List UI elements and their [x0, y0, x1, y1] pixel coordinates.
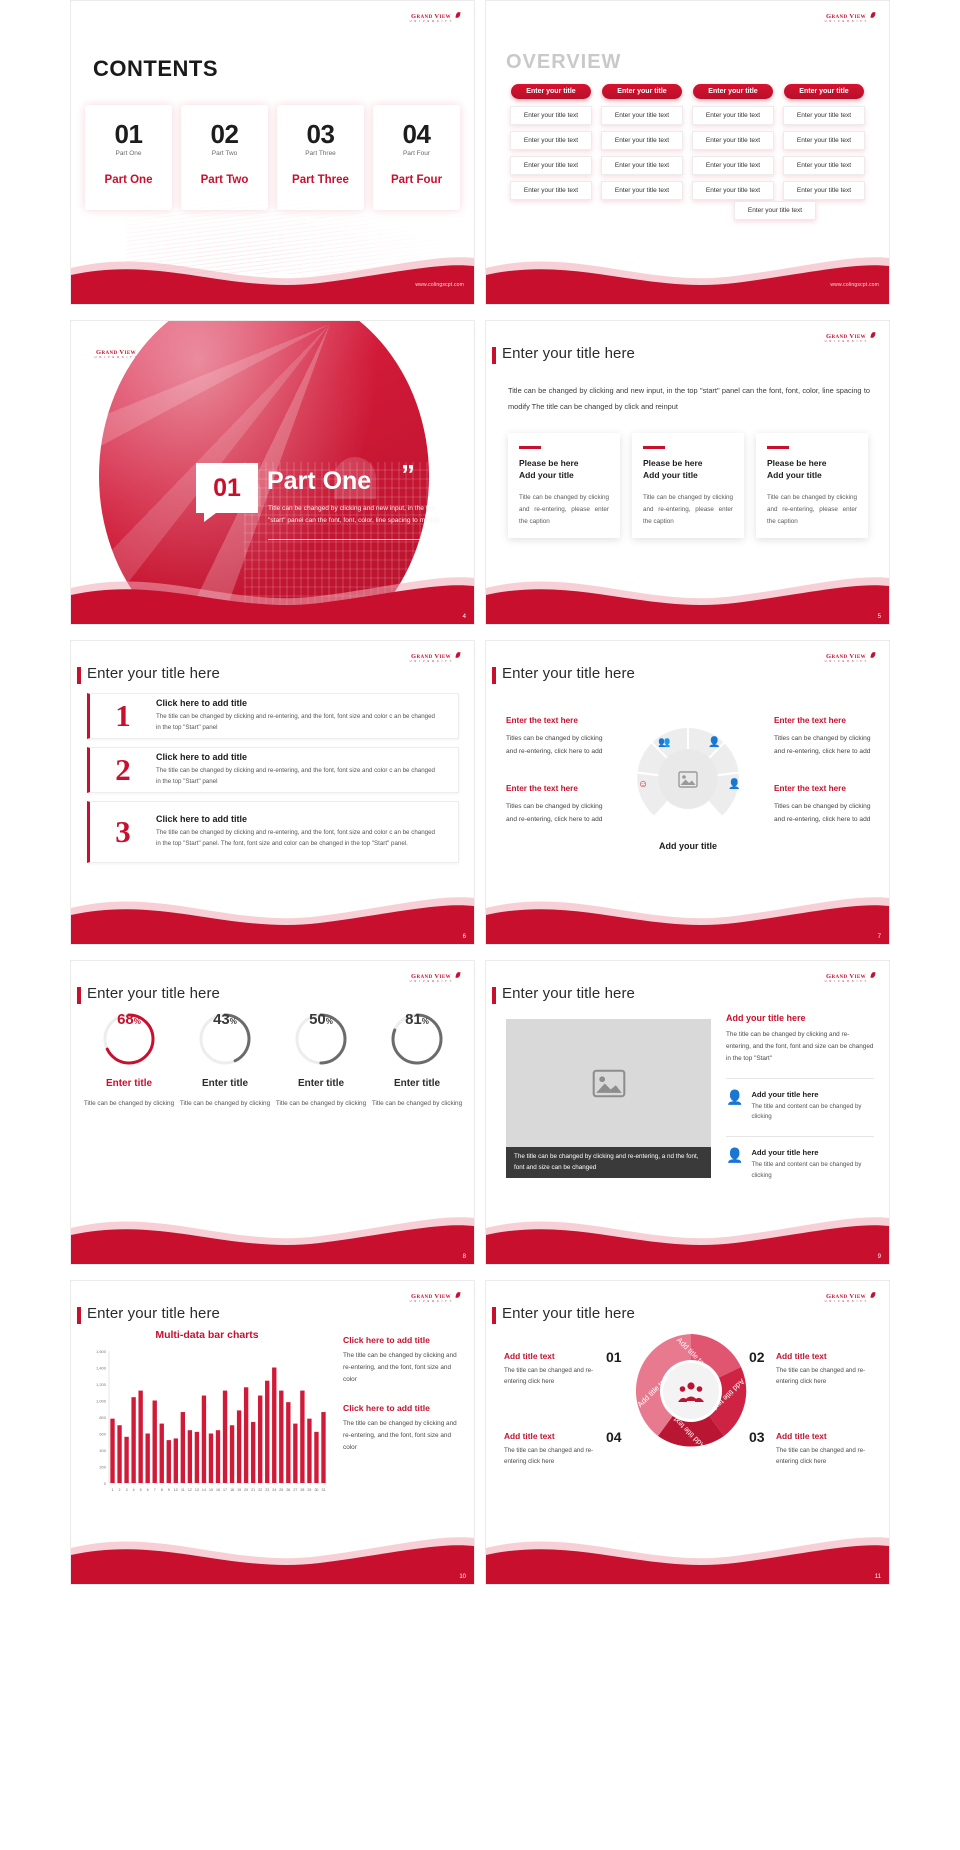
donut-chart: 81 % — [389, 1011, 445, 1067]
x-tick-label: 6 — [147, 1488, 149, 1492]
x-tick-label: 21 — [251, 1488, 255, 1492]
x-tick-label: 26 — [286, 1488, 290, 1492]
diagram-label-bottom-right: Enter the text here Titles can be change… — [774, 781, 874, 827]
numbered-row-list: 1 Click here to add title The title can … — [87, 693, 459, 871]
logo-subtext: U N I V E R S I T Y — [410, 981, 453, 984]
page-number: 7 — [878, 934, 881, 940]
item-title: Add your title here — [751, 1148, 874, 1157]
donut-unit: % — [422, 1017, 429, 1026]
y-tick-label: 600 — [99, 1432, 106, 1437]
bar — [321, 1412, 325, 1483]
bar — [167, 1440, 171, 1483]
quadrant-number-2: 02 — [749, 1349, 765, 1365]
label-title: Enter the text here — [774, 713, 874, 729]
bar-chart-svg: 02004006008001,0001,2001,4001,6001234567… — [83, 1347, 331, 1497]
bar — [314, 1432, 318, 1483]
footer-url: www.colingscpt.com — [415, 282, 464, 288]
overview-cell[interactable]: Enter your title text — [783, 106, 865, 125]
donut-label: Enter title — [273, 1078, 369, 1089]
logo-subtext: U N I V E R S I T Y — [410, 1301, 453, 1304]
x-tick-label: 10 — [174, 1488, 178, 1492]
card-label: Part Four — [391, 174, 442, 186]
x-tick-label: 25 — [279, 1488, 283, 1492]
item-body: The title and content can be changed by … — [751, 1102, 874, 1124]
accent-bar — [643, 446, 665, 449]
x-tick-label: 19 — [237, 1488, 241, 1492]
logo-subtext: U N I V E R S I T Y — [825, 661, 868, 664]
row-number: 1 — [90, 698, 156, 734]
person-icon: 👤 — [726, 1148, 743, 1182]
slide-image-and-list[interactable]: Grand View U N I V E R S I T Y Enter you… — [485, 960, 890, 1265]
bar — [153, 1401, 157, 1484]
donut-value: 81 — [405, 1011, 422, 1028]
x-tick-label: 18 — [230, 1488, 234, 1492]
donut-item[interactable]: 50 % Enter title Title can be changed by… — [273, 1011, 369, 1110]
x-tick-label: 20 — [244, 1488, 248, 1492]
donut-label: Enter title — [81, 1078, 177, 1089]
overview-cell[interactable]: Enter your title text — [692, 131, 774, 150]
card-label: Part One — [105, 174, 153, 186]
x-tick-label: 17 — [223, 1488, 227, 1492]
accent-bar — [519, 446, 541, 449]
overview-cell[interactable]: Enter your title text — [510, 156, 592, 175]
person-tie-icon: 👤 — [728, 779, 740, 790]
bar — [202, 1396, 206, 1483]
diagram-label-top-right: Enter the text here Titles can be change… — [774, 713, 874, 759]
person-icon: 👤 — [726, 1090, 743, 1124]
bar — [216, 1430, 220, 1483]
wave-footer — [71, 1522, 474, 1584]
y-tick-label: 400 — [99, 1448, 106, 1453]
page-title: CONTENTS — [93, 56, 218, 82]
info-card[interactable]: Please be here Add your title Title can … — [756, 433, 868, 538]
row-body: The title can be changed by clicking and… — [156, 766, 436, 788]
logo-subtext: U N I V E R S I T Y — [410, 21, 453, 24]
bar — [110, 1419, 114, 1483]
bar — [258, 1396, 262, 1483]
bar — [293, 1424, 297, 1483]
card-subtitle: Part One — [115, 150, 141, 157]
bar — [237, 1410, 241, 1483]
leaf-icon — [870, 1292, 875, 1299]
logo-subtext: U N I V E R S I T Y — [825, 341, 868, 344]
list-item[interactable]: 1 Click here to add title The title can … — [87, 693, 459, 739]
x-tick-label: 7 — [154, 1488, 156, 1492]
side-panel: Add your title here The title can be cha… — [726, 1013, 874, 1182]
donut-list: 68 % Enter title Title can be changed by… — [81, 1011, 465, 1110]
x-tick-label: 29 — [307, 1488, 311, 1492]
quadrant-title: Add title text — [776, 1431, 868, 1441]
card-title-line2: Add your title — [519, 470, 574, 480]
overview-cell[interactable]: Enter your title text — [601, 131, 683, 150]
page-title: Enter your title here — [502, 665, 635, 682]
card-number: 04 — [403, 121, 431, 147]
chart-container: Multi-data bar charts 02004006008001,000… — [83, 1329, 331, 1497]
bar — [286, 1402, 290, 1483]
row-body: The title can be changed by clicking and… — [156, 828, 436, 850]
card-subtitle: Part Four — [403, 150, 430, 157]
card-label: Part Two — [201, 174, 249, 186]
image-icon — [678, 771, 698, 788]
section-body: Title can be changed by clicking and new… — [268, 503, 443, 527]
item-title: Add your title here — [751, 1090, 874, 1099]
bar — [145, 1434, 149, 1484]
bar — [230, 1425, 234, 1483]
page-number: 8 — [463, 1254, 466, 1260]
diagram-caption: Add your title — [632, 841, 744, 851]
overview-cell[interactable]: Enter your title text — [692, 156, 774, 175]
card-number: 03 — [307, 121, 335, 147]
label-body: Titles can be changed by clicking and re… — [506, 735, 603, 755]
bar — [117, 1425, 121, 1483]
bar — [244, 1387, 248, 1483]
side-title: Click here to add title — [343, 1335, 463, 1345]
contents-card-list: 01 Part One Part One 02 Part Two Part Tw… — [85, 105, 460, 210]
item-body: The title and content can be changed by … — [751, 1160, 874, 1182]
overview-column: Enter your title Enter your title text E… — [692, 84, 774, 206]
quadrant-body: The title can be changed and re-entering… — [776, 1445, 868, 1467]
quadrant-title: Add title text — [776, 1351, 868, 1361]
slide-contents[interactable]: Grand View U N I V E R S I T Y CONTENTS … — [70, 0, 475, 305]
card-title-line1: Please be here — [767, 458, 827, 468]
label-title: Enter the text here — [506, 713, 606, 729]
center-image-placeholder — [658, 749, 718, 809]
contents-card[interactable]: 02 Part Two Part Two — [181, 105, 268, 210]
card-list: Please be here Add your title Title can … — [508, 433, 868, 538]
y-tick-label: 1,600 — [96, 1349, 107, 1354]
wave-footer — [71, 562, 474, 624]
card-number: 01 — [115, 121, 143, 147]
donut-unit: % — [326, 1017, 333, 1026]
y-tick-label: 0 — [104, 1481, 107, 1486]
card-title-line1: Please be here — [519, 458, 579, 468]
leaf-icon — [455, 12, 460, 19]
leaf-icon — [455, 1292, 460, 1299]
x-tick-label: 28 — [300, 1488, 304, 1492]
x-tick-label: 12 — [188, 1488, 192, 1492]
column-pill-title[interactable]: Enter your title — [602, 84, 682, 99]
overview-cell[interactable]: Enter your title text — [510, 131, 592, 150]
overview-column: Enter your title Enter your title text E… — [783, 84, 865, 206]
side-title: Click here to add title — [343, 1403, 463, 1413]
side-body: The title can be changed by clicking and… — [343, 1418, 463, 1455]
donut-sub: Title can be changed by clicking — [81, 1098, 177, 1110]
x-tick-label: 22 — [258, 1488, 262, 1492]
side-body: The title can be changed by clicking and… — [343, 1350, 463, 1387]
list-item[interactable]: 👤 Add your title here The title and cont… — [726, 1136, 874, 1182]
x-tick-label: 9 — [168, 1488, 170, 1492]
page-number: 10 — [459, 1574, 466, 1580]
donut-item[interactable]: 81 % Enter title Title can be changed by… — [369, 1011, 465, 1110]
quadrant-number-3: 03 — [749, 1429, 765, 1445]
brand-logo: Grand View U N I V E R S I T Y — [400, 11, 462, 27]
overview-cell[interactable]: Enter your title text — [510, 106, 592, 125]
bar — [279, 1391, 283, 1483]
leaf-icon — [455, 972, 460, 979]
brand-logo: Grand View U N I V E R S I T Y — [815, 331, 877, 347]
logo-subtext: U N I V E R S I T Y — [825, 21, 868, 24]
x-tick-label: 15 — [209, 1488, 213, 1492]
row-body: The title can be changed by clicking and… — [156, 712, 436, 734]
page-title: Enter your title here — [502, 985, 635, 1002]
quadrant-label-3: Add title text The title can be changed … — [776, 1431, 868, 1467]
brand-logo: Grand View U N I V E R S I T Y — [815, 651, 877, 667]
row-title: Click here to add title — [156, 698, 436, 708]
brand-logo: Grand View U N I V E R S I T Y — [815, 971, 877, 987]
bar — [138, 1391, 142, 1483]
bar — [181, 1412, 185, 1483]
card-subtitle: Part Three — [305, 150, 336, 157]
bar — [265, 1381, 269, 1483]
section-title: Part One — [267, 467, 371, 496]
bar — [188, 1430, 192, 1483]
slide-overview[interactable]: Grand View U N I V E R S I T Y OVERVIEW … — [485, 0, 890, 305]
card-body: Title can be changed by clicking and re-… — [767, 492, 857, 528]
quadrant-label-4: Add title text The title can be changed … — [504, 1431, 596, 1467]
quadrant-number-1: 01 — [606, 1349, 622, 1365]
x-tick-label: 31 — [321, 1488, 325, 1492]
x-tick-label: 4 — [133, 1488, 135, 1492]
x-tick-label: 5 — [140, 1488, 142, 1492]
column-pill-title[interactable]: Enter your title — [784, 84, 864, 99]
divider — [268, 539, 443, 540]
slide-bar-chart[interactable]: Grand View U N I V E R S I T Y Enter you… — [70, 1280, 475, 1585]
wave-footer — [71, 882, 474, 944]
quote-mark-icon: ” — [401, 464, 415, 486]
image-placeholder[interactable] — [506, 1019, 711, 1147]
x-tick-label: 3 — [126, 1488, 128, 1492]
overview-cell[interactable]: Enter your title text — [783, 156, 865, 175]
x-tick-label: 14 — [202, 1488, 206, 1492]
page-number: 11 — [875, 1574, 881, 1580]
cycle-wheel: Add title text Add title text Add title … — [631, 1331, 751, 1451]
y-tick-label: 1,400 — [96, 1366, 107, 1371]
slide-circle-diagram[interactable]: Grand View U N I V E R S I T Y Enter you… — [485, 640, 890, 945]
list-item[interactable]: 2 Click here to add title The title can … — [87, 747, 459, 793]
bar — [160, 1424, 164, 1483]
leaf-icon — [870, 332, 875, 339]
page-number: 4 — [463, 614, 466, 620]
person-circle-icon: ☺ — [638, 779, 648, 790]
leaf-icon — [870, 972, 875, 979]
x-tick-label: 8 — [161, 1488, 163, 1492]
overview-cell-extra[interactable]: Enter your title text — [734, 201, 816, 220]
list-item[interactable]: 👤 Add your title here The title and cont… — [726, 1078, 874, 1124]
overview-cell[interactable]: Enter your title text — [783, 181, 865, 200]
leaf-icon — [455, 652, 460, 659]
page-number: 9 — [878, 1254, 881, 1260]
logo-subtext: U N I V E R S I T Y — [825, 1301, 868, 1304]
bar — [124, 1437, 128, 1483]
quadrant-label-1: Add title text The title can be changed … — [504, 1351, 596, 1387]
y-tick-label: 1,200 — [96, 1382, 107, 1387]
card-body: Title can be changed by clicking and re-… — [643, 492, 733, 528]
card-title-line1: Please be here — [643, 458, 703, 468]
wave-footer — [71, 242, 474, 304]
card-subtitle: Part Two — [212, 150, 238, 157]
quadrant-title: Add title text — [504, 1431, 596, 1441]
chart-title: Multi-data bar charts — [83, 1329, 331, 1341]
overview-cell[interactable]: Enter your title text — [601, 181, 683, 200]
bar — [251, 1422, 255, 1483]
x-tick-label: 2 — [119, 1488, 121, 1492]
diagram-label-top-left: Enter the text here Titles can be change… — [506, 713, 606, 759]
brand-logo: Grand View U N I V E R S I T Y — [400, 651, 462, 667]
bar — [272, 1368, 276, 1484]
bar — [174, 1438, 178, 1483]
quadrant-body: The title can be changed and re-entering… — [776, 1365, 868, 1387]
donut-chart: 50 % — [293, 1011, 349, 1067]
x-tick-label: 16 — [216, 1488, 220, 1492]
page-number: 6 — [463, 934, 466, 940]
y-tick-label: 200 — [99, 1465, 106, 1470]
x-tick-label: 27 — [293, 1488, 297, 1492]
x-tick-label: 24 — [272, 1488, 276, 1492]
y-tick-label: 800 — [99, 1415, 106, 1420]
page-title: Enter your title here — [87, 1305, 220, 1322]
card-title-line2: Add your title — [767, 470, 822, 480]
wave-footer — [486, 882, 889, 944]
bar — [300, 1391, 304, 1483]
side-panel: Click here to add title The title can be… — [343, 1335, 463, 1470]
x-tick-label: 1 — [112, 1488, 114, 1492]
page-number: 5 — [878, 614, 881, 620]
row-title: Click here to add title — [156, 814, 436, 824]
donut-value: 50 — [309, 1011, 326, 1028]
donut-chart: 68 % — [101, 1011, 157, 1067]
brand-logo: Grand View U N I V E R S I T Y — [400, 1291, 462, 1307]
page-title: OVERVIEW — [506, 51, 621, 74]
y-tick-label: 1,000 — [96, 1399, 107, 1404]
slide-numbered-list[interactable]: Grand View U N I V E R S I T Y Enter you… — [70, 640, 475, 945]
side-title: Add your title here — [726, 1013, 874, 1023]
page-title: Enter your title here — [87, 985, 220, 1002]
bar — [195, 1432, 199, 1483]
wave-footer — [486, 1522, 889, 1584]
page-title: Enter your title here — [87, 665, 220, 682]
brand-logo: Grand View U N I V E R S I T Y — [815, 11, 877, 27]
row-number: 2 — [90, 752, 156, 788]
card-label: Part Three — [292, 174, 349, 186]
slide-cycle-diagram[interactable]: Grand View U N I V E R S I T Y Enter you… — [485, 1280, 890, 1585]
bar — [223, 1391, 227, 1483]
footer-url: www.colingscpt.com — [830, 282, 879, 288]
person-search-icon: 👤 — [708, 737, 720, 748]
slide-three-cards[interactable]: Grand View U N I V E R S I T Y Enter you… — [485, 320, 890, 625]
section-number-badge: 01 — [196, 463, 258, 513]
x-tick-label: 23 — [265, 1488, 269, 1492]
info-card[interactable]: Please be here Add your title Title can … — [508, 433, 620, 538]
contents-card[interactable]: 03 Part Three Part Three — [277, 105, 364, 210]
info-card[interactable]: Please be here Add your title Title can … — [632, 433, 744, 538]
page-title: Enter your title here — [502, 345, 635, 362]
wave-footer — [486, 562, 889, 624]
wave-footer — [486, 242, 889, 304]
bar — [209, 1434, 213, 1484]
donut-label: Enter title — [177, 1078, 273, 1089]
logo-subtext: U N I V E R S I T Y — [410, 661, 453, 664]
bar — [131, 1397, 135, 1483]
x-tick-label: 13 — [195, 1488, 199, 1492]
label-title: Enter the text here — [774, 781, 874, 797]
quadrant-body: The title can be changed and re-entering… — [504, 1445, 596, 1467]
intro-paragraph: Title can be changed by clicking and new… — [508, 383, 870, 414]
x-tick-label: 11 — [181, 1488, 185, 1492]
leaf-icon — [870, 12, 875, 19]
wave-footer — [486, 1202, 889, 1264]
row-number: 3 — [90, 814, 156, 850]
x-tick-label: 30 — [314, 1488, 318, 1492]
image-caption: The title can be changed by clicking and… — [506, 1147, 711, 1178]
donut-unit: % — [134, 1017, 141, 1026]
donut-label: Enter title — [369, 1078, 465, 1089]
bar — [307, 1419, 311, 1483]
side-body: The title can be changed by clicking and… — [726, 1029, 874, 1065]
page-title: Enter your title here — [502, 1305, 635, 1322]
column-pill-title[interactable]: Enter your title — [693, 84, 773, 99]
label-body: Titles can be changed by clicking and re… — [506, 803, 603, 823]
accent-bar — [767, 446, 789, 449]
diagram-label-bottom-left: Enter the text here Titles can be change… — [506, 781, 606, 827]
donut-value: 68 — [117, 1011, 134, 1028]
slide-section-cover[interactable]: Grand View U N I V E R S I T Y 01 Part O… — [70, 320, 475, 625]
overview-column: Enter your title Enter your title text E… — [510, 84, 592, 206]
quadrant-title: Add title text — [504, 1351, 596, 1361]
contents-card[interactable]: 04 Part Four Part Four — [373, 105, 460, 210]
slide-percentage-donuts[interactable]: Grand View U N I V E R S I T Y Enter you… — [70, 960, 475, 1265]
quadrant-number-4: 04 — [606, 1429, 622, 1445]
donut-unit: % — [230, 1017, 237, 1026]
slide-grid: Grand View U N I V E R S I T Y CONTENTS … — [0, 0, 960, 1590]
brand-logo: Grand View U N I V E R S I T Y — [815, 1291, 877, 1307]
label-title: Enter the text here — [506, 781, 606, 797]
card-body: Title can be changed by clicking and re-… — [519, 492, 609, 528]
donut-chart: 43 % — [197, 1011, 253, 1067]
brand-logo: Grand View U N I V E R S I T Y — [400, 971, 462, 987]
quadrant-label-2: Add title text The title can be changed … — [776, 1351, 868, 1387]
donut-value: 43 — [213, 1011, 230, 1028]
card-number: 02 — [211, 121, 239, 147]
label-body: Titles can be changed by clicking and re… — [774, 803, 871, 823]
overview-cell[interactable]: Enter your title text — [601, 106, 683, 125]
donut-sub: Title can be changed by clicking — [273, 1098, 369, 1110]
group-people-icon: 👥 — [658, 737, 670, 748]
row-title: Click here to add title — [156, 752, 436, 762]
label-body: Titles can be changed by clicking and re… — [774, 735, 871, 755]
wave-footer — [71, 1202, 474, 1264]
contents-card[interactable]: 01 Part One Part One — [85, 105, 172, 210]
overview-columns: Enter your title Enter your title text E… — [510, 84, 865, 206]
overview-cell[interactable]: Enter your title text — [510, 181, 592, 200]
overview-cell[interactable]: Enter your title text — [692, 181, 774, 200]
donut-sub: Title can be changed by clicking — [369, 1098, 465, 1110]
overview-cell[interactable]: Enter your title text — [601, 156, 683, 175]
overview-cell[interactable]: Enter your title text — [692, 106, 774, 125]
logo-subtext: U N I V E R S I T Y — [825, 981, 868, 984]
overview-column: Enter your title Enter your title text E… — [601, 84, 683, 206]
donut-item[interactable]: 68 % Enter title Title can be changed by… — [81, 1011, 177, 1110]
image-icon — [592, 1069, 626, 1098]
overview-cell[interactable]: Enter your title text — [783, 131, 865, 150]
donut-sub: Title can be changed by clicking — [177, 1098, 273, 1110]
list-item[interactable]: 3 Click here to add title The title can … — [87, 801, 459, 863]
donut-item[interactable]: 43 % Enter title Title can be changed by… — [177, 1011, 273, 1110]
quadrant-body: The title can be changed and re-entering… — [504, 1365, 596, 1387]
leaf-icon — [870, 652, 875, 659]
card-title-line2: Add your title — [643, 470, 698, 480]
column-pill-title[interactable]: Enter your title — [511, 84, 591, 99]
